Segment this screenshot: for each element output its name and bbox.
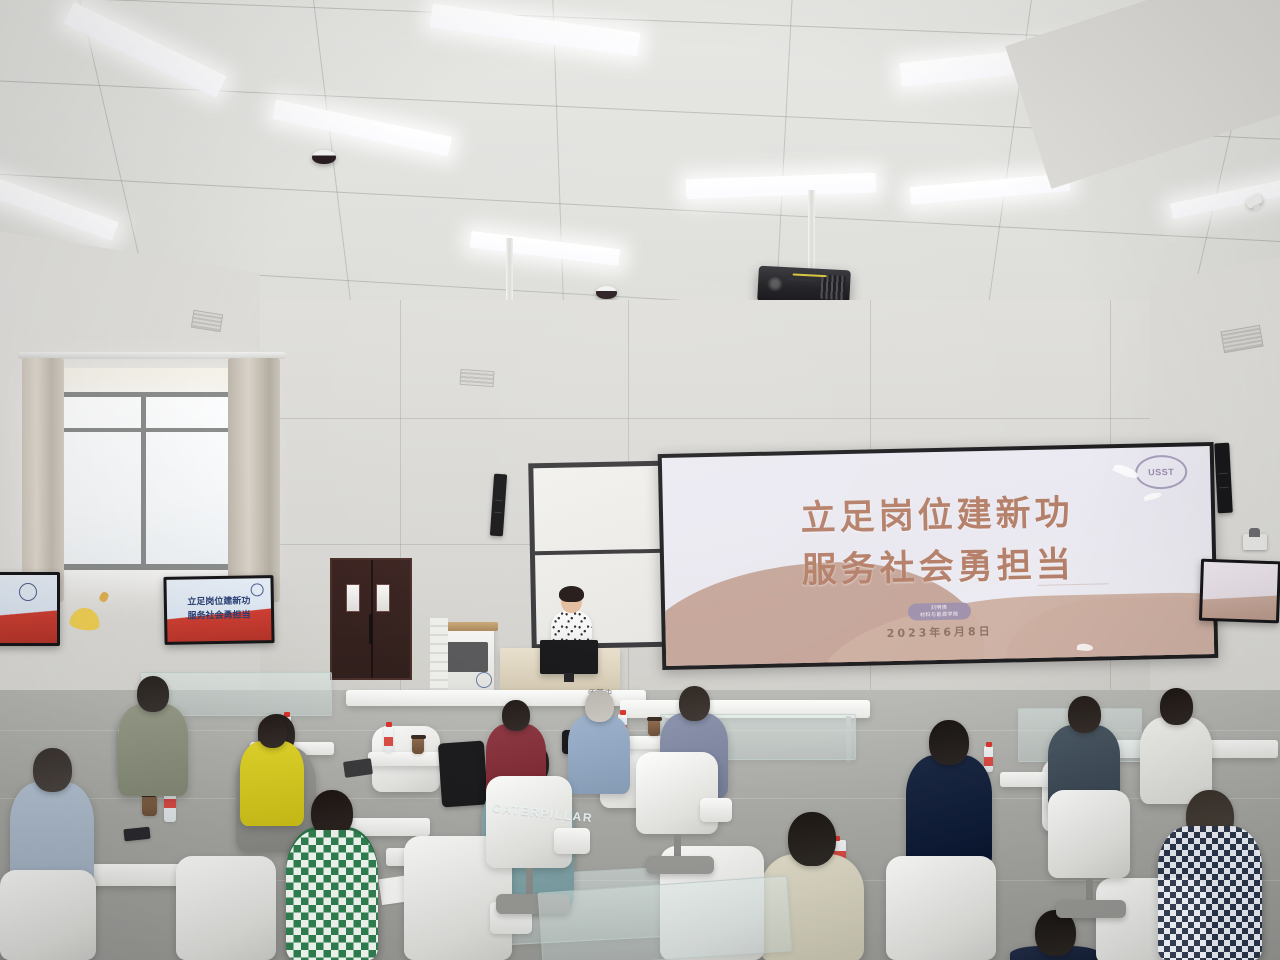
audience-member-head	[137, 676, 169, 712]
audience-member-head	[929, 720, 969, 765]
chair-base	[1056, 900, 1126, 918]
water-bottle[interactable]	[384, 726, 393, 752]
door-handle[interactable]	[369, 614, 373, 644]
slide-presenter-badge: 刘明倩 材料与能源学院	[908, 602, 971, 621]
chair-armrest-tablet[interactable]	[554, 828, 590, 854]
ptz-camera-icon	[1243, 534, 1267, 550]
door-window	[376, 584, 390, 612]
entrance-door[interactable]	[330, 558, 412, 680]
chair-armrest-tablet[interactable]	[700, 798, 732, 822]
side-monitor-title-2: 服务社会勇担当	[167, 607, 271, 622]
slide-canvas: 立足岗位建新功 服务社会勇担当 刘明倩 材料与能源学院 2023年6月8日 US…	[662, 446, 1214, 666]
window	[55, 392, 233, 570]
projection-screen: 立足岗位建新功 服务社会勇担当 刘明倩 材料与能源学院 2023年6月8日 US…	[658, 442, 1219, 670]
plaid-shirt-pattern	[1158, 826, 1262, 960]
audience-member-head	[258, 716, 287, 748]
audience-member	[906, 720, 992, 870]
side-monitor-right	[1199, 559, 1280, 624]
bird-graphic-icon	[1112, 462, 1139, 481]
slide-title-line-2: 服务社会勇担当	[664, 533, 1213, 596]
audience-member	[1140, 688, 1212, 804]
chair-base	[646, 856, 714, 874]
lecture-hall-photo: 立足岗位建新功 服务社会勇担当 刘明倩 材料与能源学院 2023年6月8日 US…	[0, 0, 1280, 960]
podium-emblem-icon	[476, 672, 492, 688]
projector-mount-pole	[808, 190, 815, 272]
audience-member-head	[788, 812, 836, 866]
lectern-control-panel[interactable]	[444, 642, 488, 672]
presenter-hair	[559, 586, 584, 602]
projector-vent-icon	[820, 275, 845, 300]
audience-member-head	[585, 690, 614, 722]
projector-lens-icon	[767, 275, 784, 292]
dome-camera-icon	[596, 286, 617, 299]
audience-member-torso	[118, 704, 188, 796]
coffee-cup[interactable]	[142, 796, 157, 816]
backpack[interactable]	[438, 740, 488, 807]
audience-member-head	[33, 748, 72, 792]
curtain-left	[22, 358, 64, 602]
slide-presenter-dept: 材料与能源学院	[920, 611, 959, 619]
curtain-right	[228, 358, 280, 602]
coffee-cup[interactable]	[412, 738, 424, 754]
audience-member-head	[679, 686, 710, 721]
dome-camera-icon	[312, 150, 336, 164]
audience-member-torso	[568, 715, 630, 794]
audience-member-head	[1068, 696, 1101, 733]
podium-cabinet	[430, 618, 448, 690]
checkered-blouse-pattern	[286, 830, 378, 960]
audience-member-head	[1160, 688, 1193, 725]
university-logo-text: USST	[1148, 467, 1174, 478]
audience-member	[118, 676, 188, 796]
side-monitor-left: 立足岗位建新功 服务社会勇担当	[163, 575, 274, 645]
audience-member-torso	[906, 755, 992, 870]
air-vent-icon	[459, 369, 494, 387]
audience-member-head	[502, 700, 530, 731]
side-monitor-left-far	[0, 572, 60, 646]
coffee-cup[interactable]	[648, 720, 660, 736]
podium-monitor	[540, 640, 598, 674]
door-window	[346, 584, 360, 612]
audience-member	[568, 690, 630, 794]
window-header	[45, 368, 245, 394]
